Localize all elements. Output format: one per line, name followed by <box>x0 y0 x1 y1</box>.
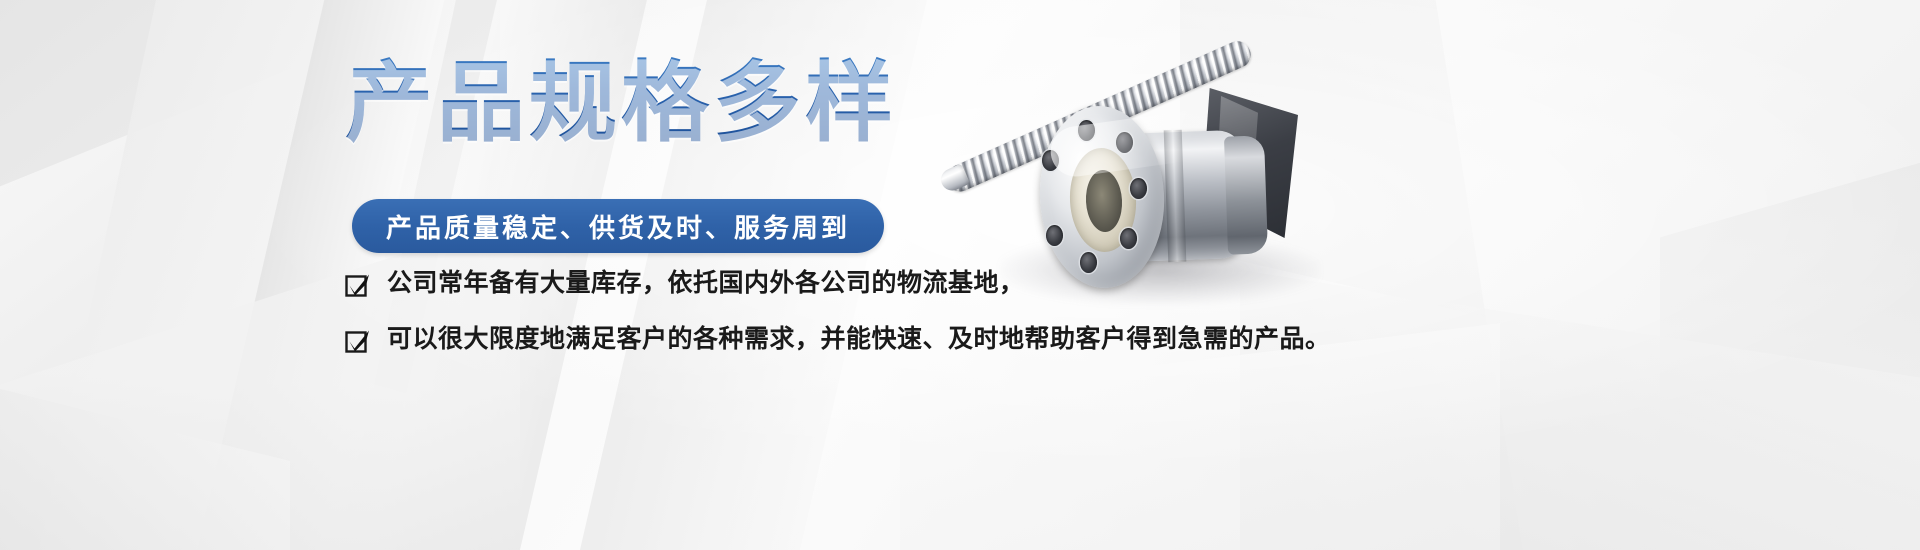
banner-subtitle-pill: 产品质量稳定、供货及时、服务周到 <box>352 199 884 253</box>
list-item: 公司常年备有大量库存，依托国内外各公司的物流基地， <box>345 268 1331 298</box>
checkbox-checked-icon <box>345 272 371 298</box>
product-spec-banner: 产品规格多样 产品质量稳定、供货及时、服务周到 公司常年备有大量库存，依托国内外… <box>0 0 1920 550</box>
banner-headline: 产品规格多样 <box>345 55 897 150</box>
checkbox-checked-icon <box>345 328 371 354</box>
banner-content: 产品规格多样 产品质量稳定、供货及时、服务周到 公司常年备有大量库存，依托国内外… <box>0 0 1920 550</box>
banner-subtitle-text: 产品质量稳定、供货及时、服务周到 <box>386 208 850 245</box>
banner-bullet-list: 公司常年备有大量库存，依托国内外各公司的物流基地， 可以很大限度地满足客户的各种… <box>345 268 1331 380</box>
list-item-label: 公司常年备有大量库存，依托国内外各公司的物流基地， <box>387 268 1025 298</box>
list-item-label: 可以很大限度地满足客户的各种需求，并能快速、及时地帮助客户得到急需的产品。 <box>387 324 1331 354</box>
list-item: 可以很大限度地满足客户的各种需求，并能快速、及时地帮助客户得到急需的产品。 <box>345 324 1331 354</box>
